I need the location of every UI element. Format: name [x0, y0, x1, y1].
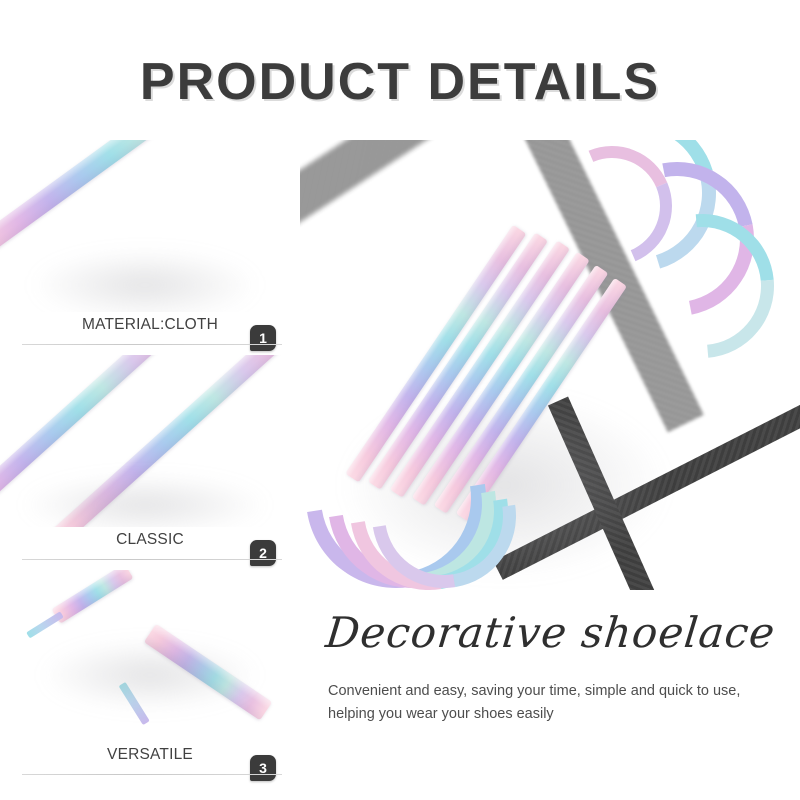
feature-panel-material: MATERIAL:CLOTH 1: [0, 140, 300, 355]
lace-aglet: [26, 611, 64, 638]
feature-label: MATERIAL:CLOTH: [82, 316, 218, 334]
feature-label: VERSATILE: [107, 746, 193, 764]
feature-label: CLASSIC: [116, 531, 184, 549]
feature-badge-3: 3: [250, 755, 276, 781]
art-shadow: [20, 475, 270, 527]
feature-art-versatile: [0, 570, 300, 742]
feature-badge-1: 1: [250, 325, 276, 351]
lace-ribbon: [51, 570, 133, 624]
hero-description: Convenient and easy, saving your time, s…: [328, 680, 768, 726]
feature-art-material: [0, 140, 300, 312]
feature-art-classic: [0, 355, 300, 527]
hero-headline: Decorative shoelace: [323, 608, 777, 657]
hero-section: Decorative shoelace Convenient and easy,…: [300, 140, 800, 800]
feature-badge-2: 2: [250, 540, 276, 566]
feature-panel-versatile: VERSATILE 3: [0, 570, 300, 785]
art-shadow: [40, 640, 260, 710]
hero-image: [300, 140, 800, 590]
panel-divider: [22, 559, 282, 560]
page-title: PRODUCT DETAILS: [0, 52, 800, 112]
art-shadow: [30, 250, 260, 312]
lace-sheen: [51, 570, 133, 624]
feature-panel-classic: CLASSIC 2: [0, 355, 300, 570]
panel-divider: [22, 774, 282, 775]
panel-divider: [22, 344, 282, 345]
feature-panel-list: MATERIAL:CLOTH 1 CLASSIC 2: [0, 140, 300, 800]
